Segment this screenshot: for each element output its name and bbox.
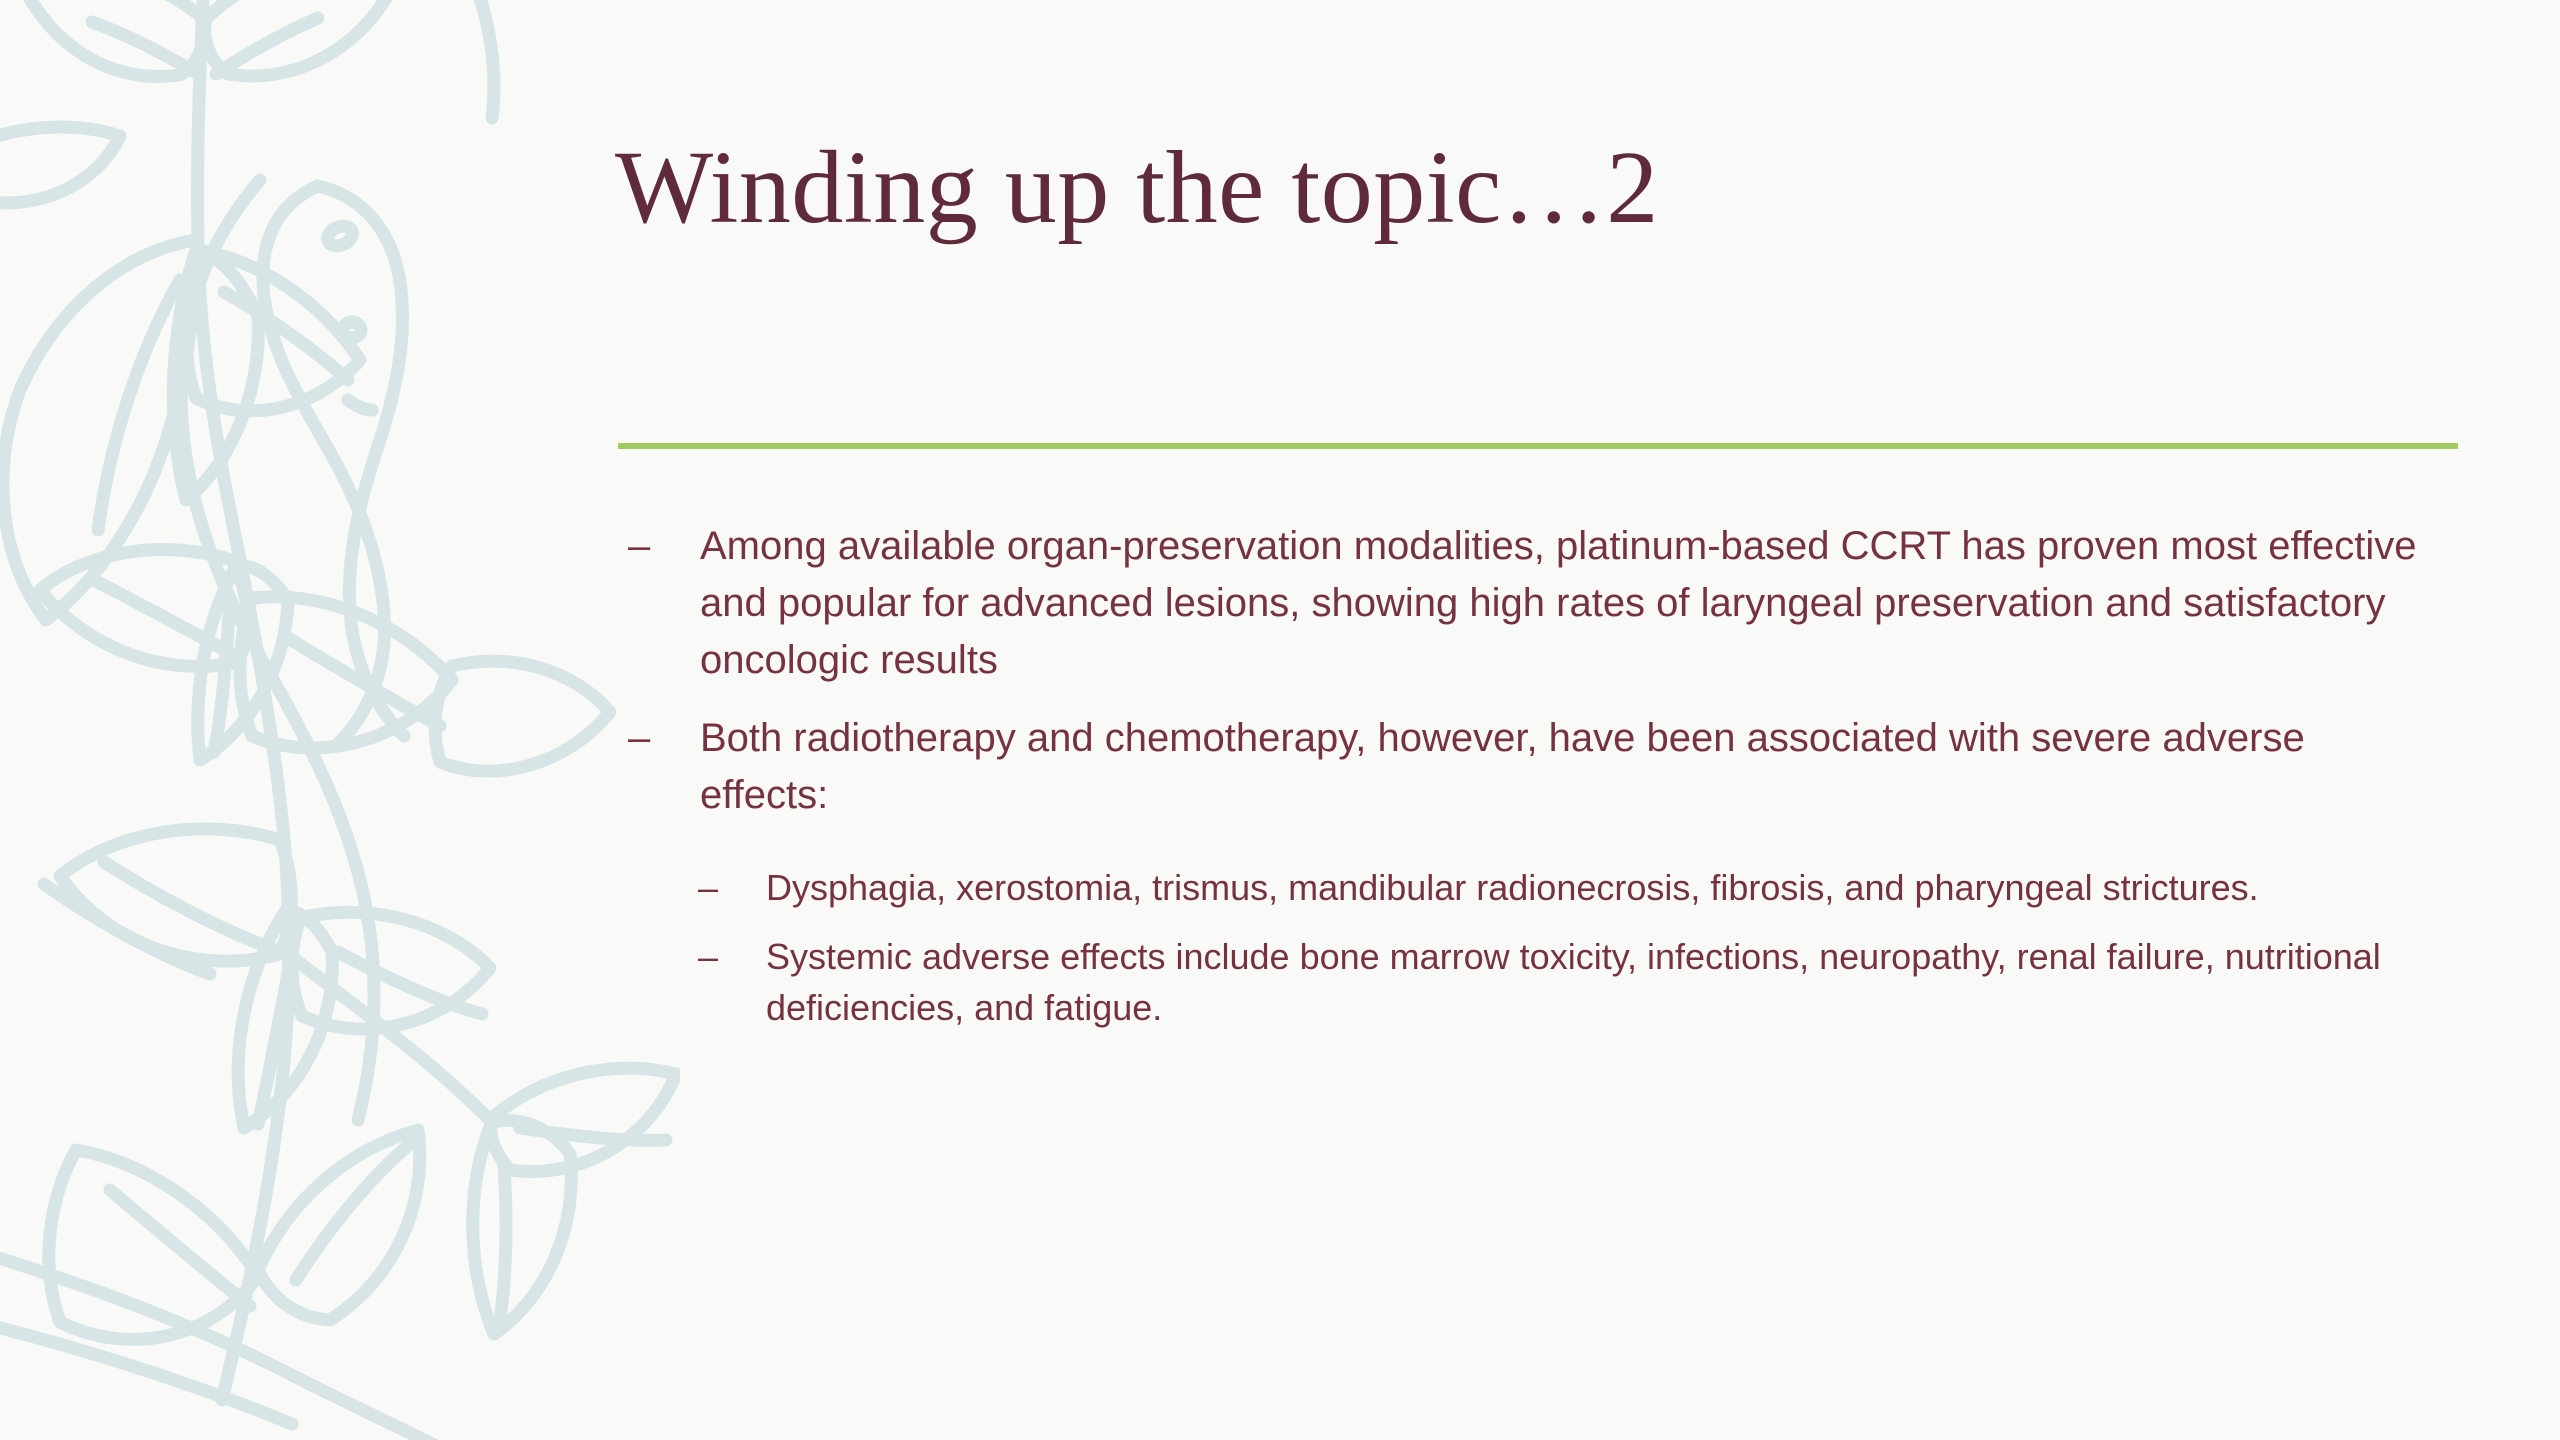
bullet-dash-icon: – — [698, 862, 766, 913]
bullet-dash-icon: – — [698, 931, 766, 982]
sub-list-item-text: Dysphagia, xerostomia, trismus, mandibul… — [766, 862, 2430, 913]
sub-list-item: – Dysphagia, xerostomia, trismus, mandib… — [620, 862, 2430, 913]
page-title: Winding up the topic…2 — [615, 131, 1659, 245]
presentation-slide: Winding up the topic…2 – Among available… — [0, 0, 2560, 1440]
list-spacer — [620, 846, 2430, 862]
sub-list-item: – Systemic adverse effects include bone … — [620, 931, 2430, 1033]
title-divider-rule — [618, 443, 2458, 449]
title-block: Winding up the topic…2 — [615, 108, 2475, 268]
bullet-list: – Among available organ-preservation mod… — [620, 518, 2430, 1051]
sub-list-item-text: Systemic adverse effects include bone ma… — [766, 931, 2430, 1033]
list-item: – Both radiotherapy and chemotherapy, ho… — [620, 710, 2430, 824]
bullet-dash-icon: – — [628, 518, 700, 575]
list-item-text: Both radiotherapy and chemotherapy, howe… — [700, 710, 2430, 824]
bullet-dash-icon: – — [628, 710, 700, 767]
list-item-text: Among available organ-preservation modal… — [700, 518, 2430, 688]
list-item: – Among available organ-preservation mod… — [620, 518, 2430, 688]
leaf-watermark-decoration — [0, 0, 680, 1440]
